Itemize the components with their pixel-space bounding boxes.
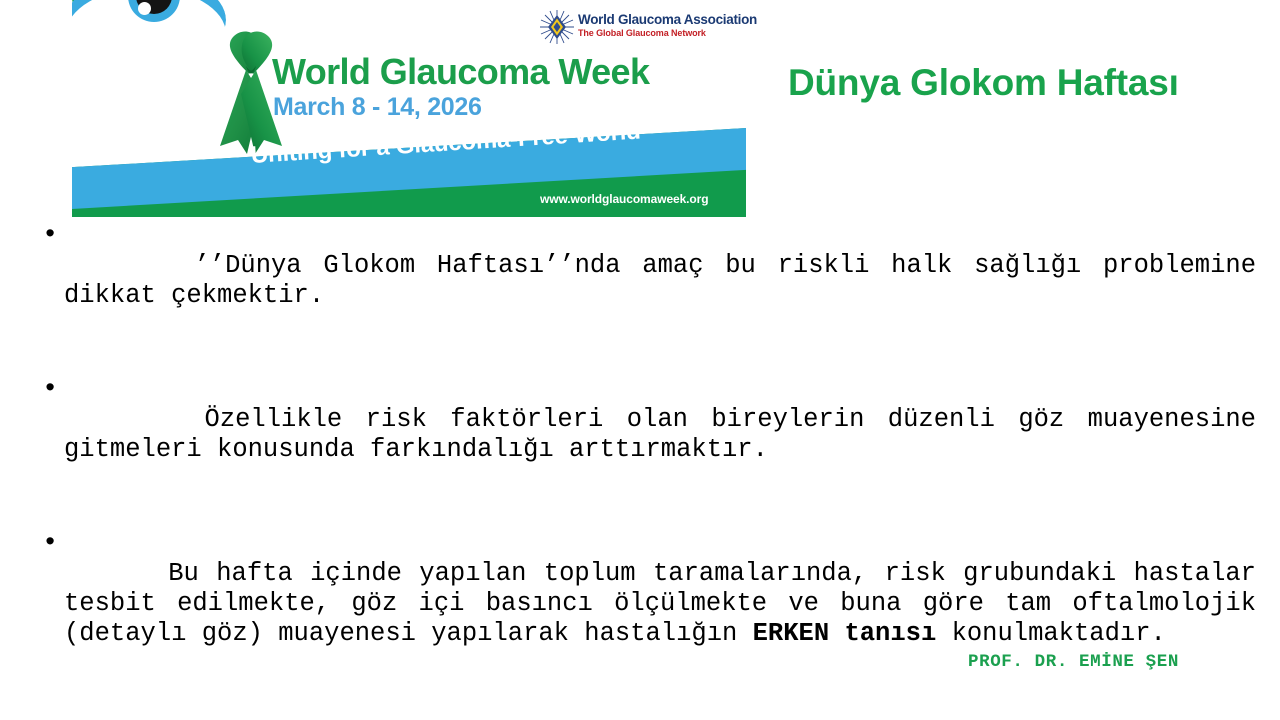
author-signature: PROF. DR. EMİNE ŞEN bbox=[968, 652, 1179, 672]
bullet-text-plain: ’’Dünya Glokom Haftası’’nda amaç bu risk… bbox=[64, 251, 1271, 310]
world-glaucoma-association-logo: World Glaucoma Association The Global Gl… bbox=[540, 10, 752, 44]
bullet-marker: • bbox=[36, 375, 64, 405]
compass-star-icon bbox=[540, 10, 574, 44]
wgw-url: www.worldglaucomaweek.org bbox=[540, 192, 708, 206]
bullet-marker: • bbox=[36, 221, 64, 251]
bullet-text: ’’Dünya Glokom Haftası’’nda amaç bu risk… bbox=[64, 221, 1256, 341]
bullet-text-tail: konulmaktadır. bbox=[936, 619, 1166, 648]
bullet-text: Özellikle risk faktörleri olan bireyleri… bbox=[64, 375, 1256, 495]
wgw-title: World Glaucoma Week bbox=[272, 51, 649, 93]
list-item: • Özellikle risk faktörleri olan bireyle… bbox=[36, 375, 1256, 495]
bullet-text-bold: ERKEN tanısı bbox=[753, 619, 937, 648]
page-title: Dünya Glokom Haftası bbox=[788, 62, 1179, 104]
wga-name: World Glaucoma Association bbox=[578, 12, 757, 28]
wga-tagline: The Global Glaucoma Network bbox=[578, 28, 757, 39]
list-item: • ’’Dünya Glokom Haftası’’nda amaç bu ri… bbox=[36, 221, 1256, 341]
bullet-list: • ’’Dünya Glokom Haftası’’nda amaç bu ri… bbox=[36, 221, 1256, 679]
bullet-text-plain: Özellikle risk faktörleri olan bireyleri… bbox=[64, 405, 1271, 464]
bullet-marker: • bbox=[36, 529, 64, 559]
wgw-dates: March 8 - 14, 2026 bbox=[273, 93, 482, 122]
eye-icon bbox=[72, 0, 218, 48]
